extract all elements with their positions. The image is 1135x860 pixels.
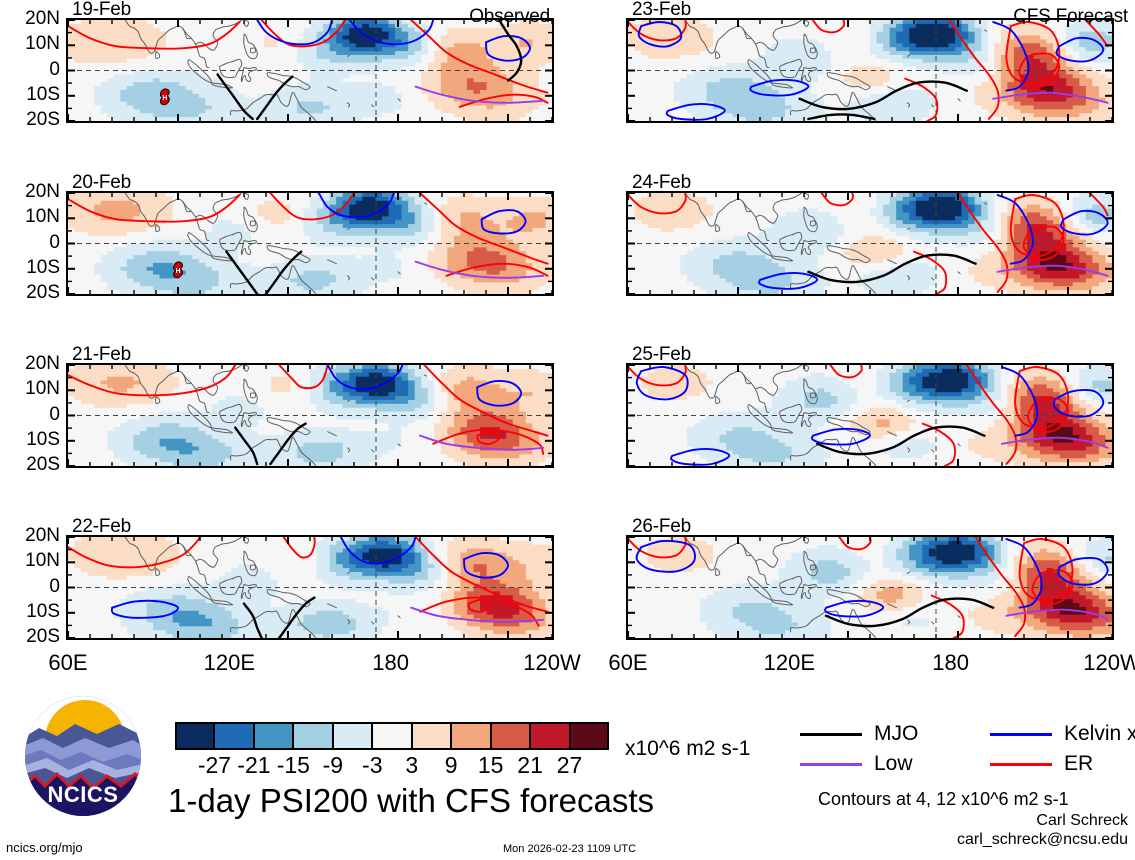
contour-note: Contours at 4, 12 x10^6 m2 s-1 — [818, 789, 1069, 810]
map-panel[interactable]: H — [66, 18, 554, 123]
x-tick-label: 120E — [739, 650, 839, 676]
author-name: Carl Schreck — [880, 812, 1128, 830]
colorbar-frame — [175, 722, 609, 750]
y-tick-label: 10N — [0, 33, 60, 55]
y-tick-label: 10S — [0, 601, 60, 623]
main-title: 1-day PSI200 with CFS forecasts — [168, 782, 654, 820]
y-tick-label: 20N — [0, 525, 60, 547]
map-panel[interactable] — [66, 363, 554, 468]
y-tick-label: 0 — [0, 59, 60, 81]
y-tick-label: 20S — [0, 454, 60, 476]
y-tick-label: 10S — [0, 429, 60, 451]
svg-text:H: H — [175, 268, 180, 275]
column-header-observed: Observed — [400, 6, 550, 28]
y-tick-label: 0 — [0, 232, 60, 254]
y-tick-label: 0 — [0, 404, 60, 426]
legend-line-mjo — [800, 733, 862, 736]
y-tick-label: 10S — [0, 257, 60, 279]
x-tick-label: 180 — [341, 650, 441, 676]
legend-line-kelvin-x2 — [990, 733, 1052, 736]
column-header-forecast: CFS Forecast — [940, 6, 1128, 28]
y-tick-label: 20S — [0, 626, 60, 648]
ncics-logo[interactable]: NCICS — [23, 694, 143, 818]
y-tick-label: 10S — [0, 84, 60, 106]
map-panel[interactable]: H — [66, 191, 554, 296]
legend-label-er: ER — [1064, 752, 1093, 776]
site-url[interactable]: ncics.org/mjo — [6, 840, 83, 855]
y-tick-label: 10N — [0, 206, 60, 228]
y-tick-label: 20N — [0, 8, 60, 30]
legend-line-low — [800, 763, 862, 766]
y-tick-label: 0 — [0, 576, 60, 598]
x-tick-label: 60E — [18, 650, 118, 676]
map-panel[interactable] — [66, 535, 554, 640]
map-panel[interactable] — [626, 191, 1114, 296]
x-tick-label: 120E — [179, 650, 279, 676]
y-tick-label: 10N — [0, 550, 60, 572]
map-panel[interactable] — [626, 18, 1114, 123]
legend-line-er — [990, 763, 1052, 766]
y-tick-label: 20S — [0, 109, 60, 131]
y-tick-label: 20N — [0, 353, 60, 375]
map-panel[interactable] — [626, 363, 1114, 468]
x-tick-label: 60E — [578, 650, 678, 676]
timestamp: Mon 2026-02-23 1109 UTC — [503, 843, 636, 855]
legend-label-mjo: MJO — [874, 722, 918, 746]
y-tick-label: 10N — [0, 378, 60, 400]
colorbar-tick-label: 27 — [545, 752, 595, 779]
y-tick-label: 20N — [0, 181, 60, 203]
colorbar — [175, 722, 609, 750]
x-tick-label: 180 — [901, 650, 1001, 676]
x-tick-label: 120W — [1062, 650, 1135, 676]
legend-label-kelvin-x2: Kelvin x2 — [1064, 722, 1135, 746]
author-email: carl_schreck@ncsu.edu — [860, 831, 1128, 849]
y-tick-label: 20S — [0, 282, 60, 304]
colorbar-units: x10^6 m2 s-1 — [625, 737, 750, 761]
svg-text:H: H — [162, 95, 167, 102]
legend-label-low: Low — [874, 752, 913, 776]
map-panel[interactable] — [626, 535, 1114, 640]
